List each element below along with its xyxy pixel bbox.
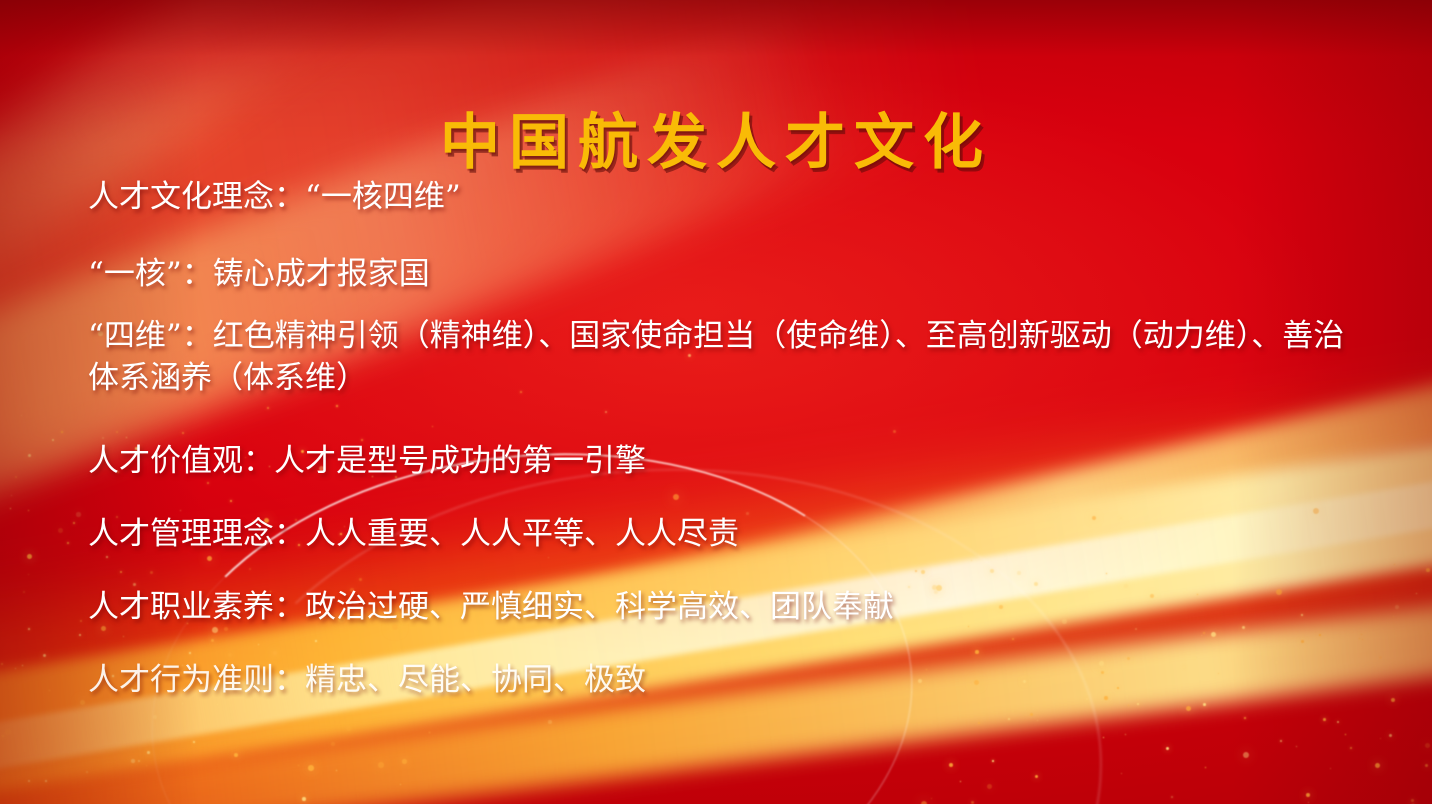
spacer	[88, 623, 1372, 665]
body-content: 人才文化理念：“一核四维” “一核”：铸心成才报家国 “四维”：红色精神引领（精…	[88, 182, 1372, 696]
line-four-dimensions: “四维”：红色精神引领（精神维）、国家使命担当（使命维）、至高创新驱动（动力维）…	[88, 316, 1372, 400]
spacer	[88, 290, 1372, 316]
spacer	[88, 213, 1372, 259]
spacer	[88, 477, 1372, 519]
page-title: 中国航发人才文化	[0, 94, 1432, 181]
slide-canvas: 中国航发人才文化 人才文化理念：“一核四维” “一核”：铸心成才报家国 “四维”…	[0, 0, 1432, 804]
line-management: 人才管理理念：人人重要、人人平等、人人尽责	[88, 519, 1372, 550]
line-values: 人才价值观：人才是型号成功的第一引擎	[88, 446, 1372, 477]
line-core: “一核”：铸心成才报家国	[88, 259, 1372, 290]
spacer	[88, 550, 1372, 592]
spacer	[88, 400, 1372, 446]
line-professionalism: 人才职业素养：政治过硬、严慎细实、科学高效、团队奉献	[88, 592, 1372, 623]
line-code-of-conduct: 人才行为准则：精忠、尽能、协同、极致	[88, 665, 1372, 696]
line-concept: 人才文化理念：“一核四维”	[88, 182, 1372, 213]
